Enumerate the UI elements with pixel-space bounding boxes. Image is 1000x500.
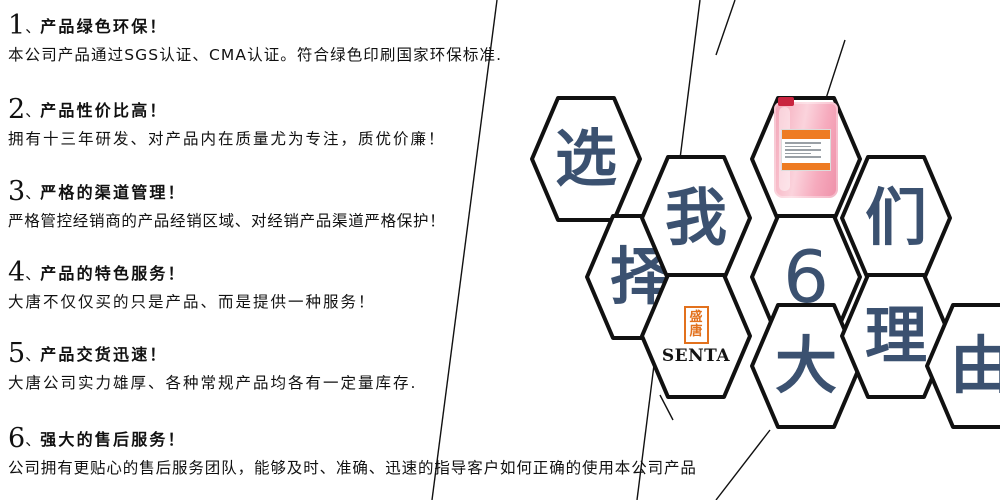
brand-logo: 盛 唐 SENTA	[640, 273, 752, 399]
point-title: 产品的特色服务！	[40, 264, 186, 283]
can-label-text-lines	[782, 139, 830, 158]
hex-cell-men: 们	[840, 155, 952, 281]
point-description: 本公司产品通过SGS认证、CMA认证。符合绿色印刷国家环保标准.	[8, 46, 502, 65]
selling-point-6: 6、强大的售后服务！ 公司拥有更贴心的售后服务团队，能够及时、准确、迅速的指导客…	[8, 425, 697, 478]
point-description: 拥有十三年研发、对产品内在质量尤为专注，质优价廉！	[8, 130, 446, 149]
poster-canvas: 选 择 我 盛 唐 SENTA	[0, 0, 1000, 500]
point-separator: 、	[25, 346, 40, 364]
point-title: 强大的售后服务！	[40, 430, 186, 449]
point-number: 5	[8, 338, 25, 369]
point-description: 大唐公司实力雄厚、各种常规产品均各有一定量库存.	[8, 374, 417, 393]
point-number: 2	[8, 94, 25, 125]
point-heading: 4、产品的特色服务！	[8, 259, 376, 286]
point-separator: 、	[25, 18, 40, 36]
point-title: 产品性价比高！	[40, 101, 167, 120]
selling-point-1: 1、产品绿色环保！ 本公司产品通过SGS认证、CMA认证。符合绿色印刷国家环保标…	[8, 12, 502, 65]
point-heading: 1、产品绿色环保！	[8, 12, 502, 39]
can-cap-icon	[778, 97, 794, 106]
hex-label-men: 们	[840, 155, 952, 281]
point-separator: 、	[25, 265, 40, 283]
point-heading: 5、产品交货迅速！	[8, 340, 417, 367]
point-title: 产品交货迅速！	[40, 345, 167, 364]
point-description: 大唐不仅仅买的只是产品、而是提供一种服务！	[8, 293, 376, 312]
selling-point-4: 4、产品的特色服务！ 大唐不仅仅买的只是产品、而是提供一种服务！	[8, 259, 376, 312]
hex-cell-logo: 盛 唐 SENTA	[640, 273, 752, 399]
point-description: 严格管控经销商的产品经销区域、对经销产品渠道严格保护！	[8, 212, 445, 231]
logo-seal-icon: 盛 唐	[684, 306, 709, 344]
point-separator: 、	[25, 102, 40, 120]
point-number: 1	[8, 10, 25, 41]
hex-label-you: 由	[925, 303, 1000, 429]
can-label	[781, 129, 831, 171]
point-heading: 6、强大的售后服务！	[8, 425, 697, 452]
point-heading: 3、严格的渠道管理！	[8, 178, 445, 205]
selling-point-2: 2、产品性价比高！ 拥有十三年研发、对产品内在质量尤为专注，质优价廉！	[8, 96, 446, 149]
point-number: 3	[8, 176, 25, 207]
hex-cell-you: 由	[925, 303, 1000, 429]
point-number: 4	[8, 257, 25, 288]
logo-seal-char-2: 唐	[689, 325, 702, 339]
point-separator: 、	[25, 184, 40, 202]
point-separator: 、	[25, 431, 40, 449]
selling-point-5: 5、产品交货迅速！ 大唐公司实力雄厚、各种常规产品均各有一定量库存.	[8, 340, 417, 393]
selling-point-3: 3、严格的渠道管理！ 严格管控经销商的产品经销区域、对经销产品渠道严格保护！	[8, 178, 445, 231]
selling-points-list: 1、产品绿色环保！ 本公司产品通过SGS认证、CMA认证。符合绿色印刷国家环保标…	[8, 0, 648, 500]
hex-label-wo: 我	[640, 155, 752, 281]
can-label-top-bar	[782, 130, 830, 139]
hex-cell-wo: 我	[640, 155, 752, 281]
can-label-bottom-bar	[782, 163, 830, 170]
point-number: 6	[8, 423, 25, 454]
point-description: 公司拥有更贴心的售后服务团队，能够及时、准确、迅速的指导客户如何正确的使用本公司…	[8, 459, 697, 478]
point-title: 产品绿色环保！	[40, 17, 167, 36]
point-title: 严格的渠道管理！	[40, 183, 186, 202]
logo-seal-char-1: 盛	[689, 311, 702, 325]
jerry-can-icon	[774, 102, 838, 198]
logo-wordmark: SENTA	[662, 346, 730, 366]
point-heading: 2、产品性价比高！	[8, 96, 446, 123]
